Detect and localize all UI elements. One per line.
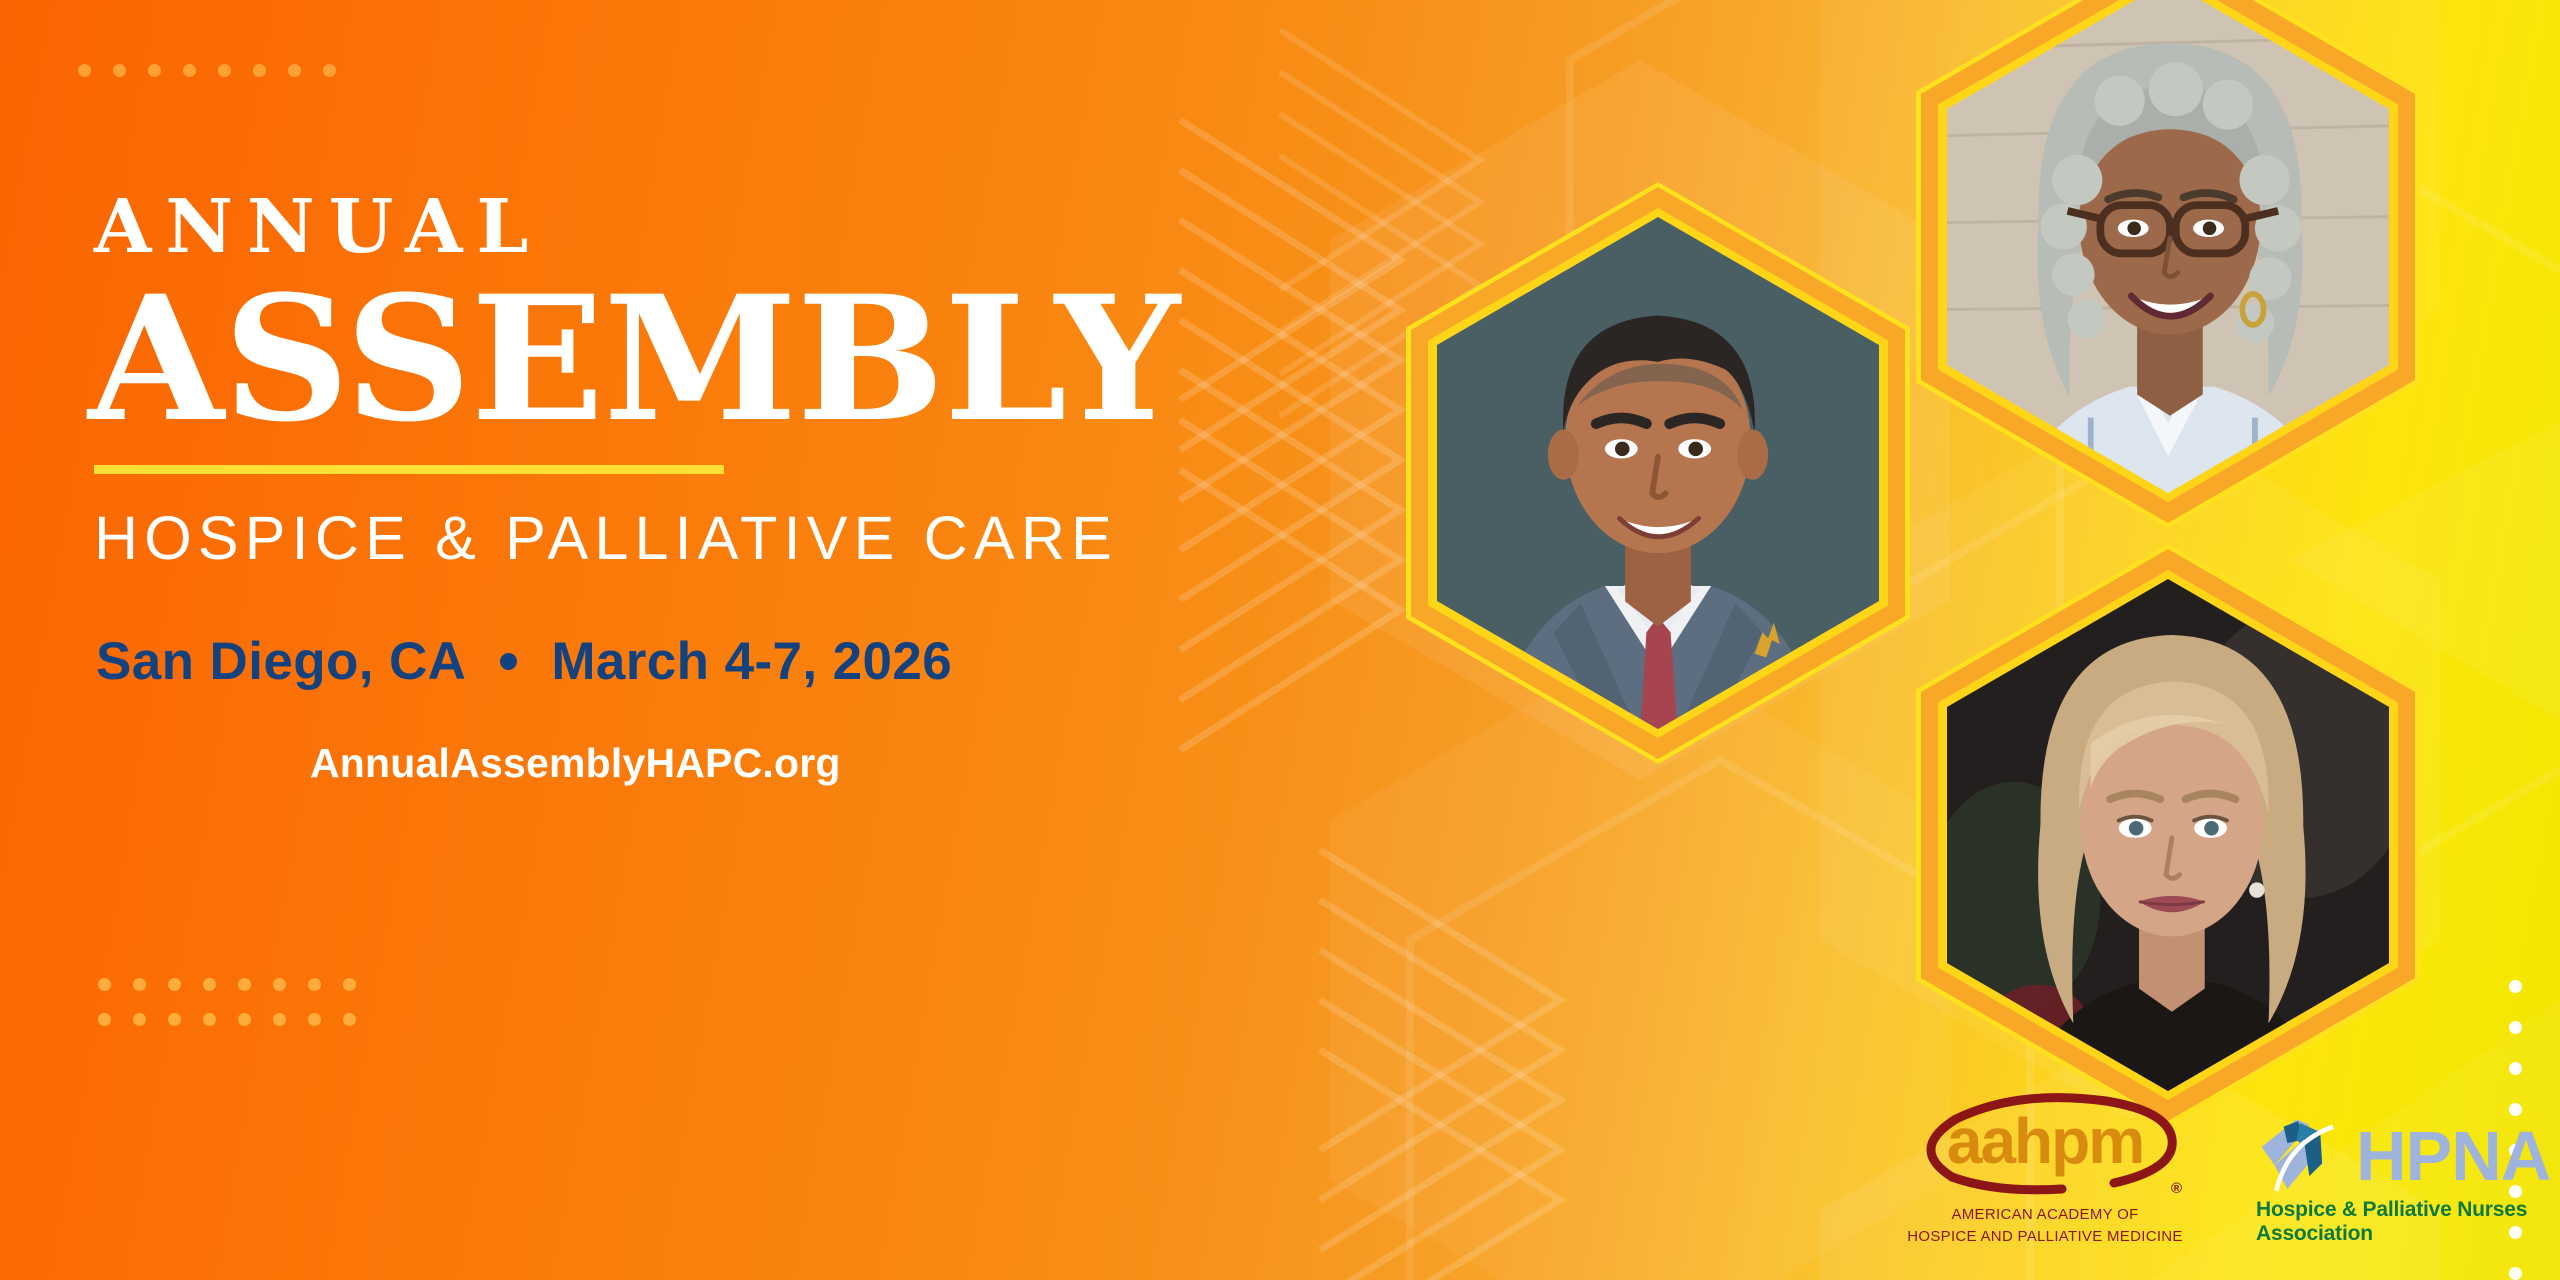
dot [238,1013,251,1026]
aahpm-tagline-line1: AMERICAN ACADEMY OF [1900,1205,2190,1225]
speaker-portrait-2 [1938,0,2398,502]
event-location-and-dates: San Diego, CA March 4-7, 2026 [96,631,1168,692]
bullet-separator-icon [500,653,517,670]
dot [253,64,266,77]
dot-cluster-top-left [78,64,336,77]
dot [168,978,181,991]
dot [183,64,196,77]
dot [98,1013,111,1026]
dot [273,1013,286,1026]
aahpm-wordmark: aahpm [1900,1109,2190,1173]
dot [2509,1062,2522,1075]
subtitle-hospice-palliative-care: HOSPICE & PALLIATIVE CARE [94,508,1168,569]
event-dates: March 4-7, 2026 [551,631,952,692]
dot [308,1013,321,1026]
organization-logos: aahpm ® AMERICAN ACADEMY OF HOSPICE AND … [1900,1091,2560,1246]
dot [308,978,321,991]
hpna-top-row: HPNA [2256,1112,2560,1200]
banner-text-block: ANNUAL ASSEMBLY HOSPICE & PALLIATIVE CAR… [88,190,1168,787]
kicker-annual: ANNUAL [94,190,1168,264]
event-banner: ANNUAL ASSEMBLY HOSPICE & PALLIATIVE CAR… [0,0,2560,1280]
dot [323,64,336,77]
dot [343,1013,356,1026]
hpna-logo: HPNA Hospice & Palliative Nurses Associa… [2256,1112,2560,1246]
dot [133,978,146,991]
dot [2509,1021,2522,1034]
dot [203,978,216,991]
speaker-portrait-1 [1428,208,1888,738]
dot [98,978,111,991]
aahpm-tagline-line2: HOSPICE AND PALLIATIVE MEDICINE [1900,1227,2190,1247]
dot-cluster-bottom-left [98,978,356,1026]
aahpm-mark: aahpm ® [1900,1091,2190,1203]
dot [78,64,91,77]
dot [168,1013,181,1026]
dot [288,64,301,77]
event-location: San Diego, CA [96,631,466,692]
page-title: ASSEMBLY [88,276,1190,441]
dot [113,64,126,77]
dot [343,978,356,991]
dot [2509,1267,2522,1280]
dot [133,1013,146,1026]
hpna-wordmark: HPNA [2356,1123,2550,1190]
dot [218,64,231,77]
dot [238,978,251,991]
yellow-divider-rule [94,465,724,474]
dot [273,978,286,991]
speaker-portrait-3 [1938,570,2398,1100]
dot [203,1013,216,1026]
registered-trademark-icon: ® [2171,1180,2182,1197]
hpna-tagline: Hospice & Palliative Nurses Association [2256,1198,2560,1246]
event-website-link[interactable]: AnnualAssemblyHAPC.org [310,740,1168,787]
dot [148,64,161,77]
aahpm-logo: aahpm ® AMERICAN ACADEMY OF HOSPICE AND … [1900,1091,2190,1246]
hpna-emblem-icon [2256,1112,2348,1200]
dot [2509,980,2522,993]
